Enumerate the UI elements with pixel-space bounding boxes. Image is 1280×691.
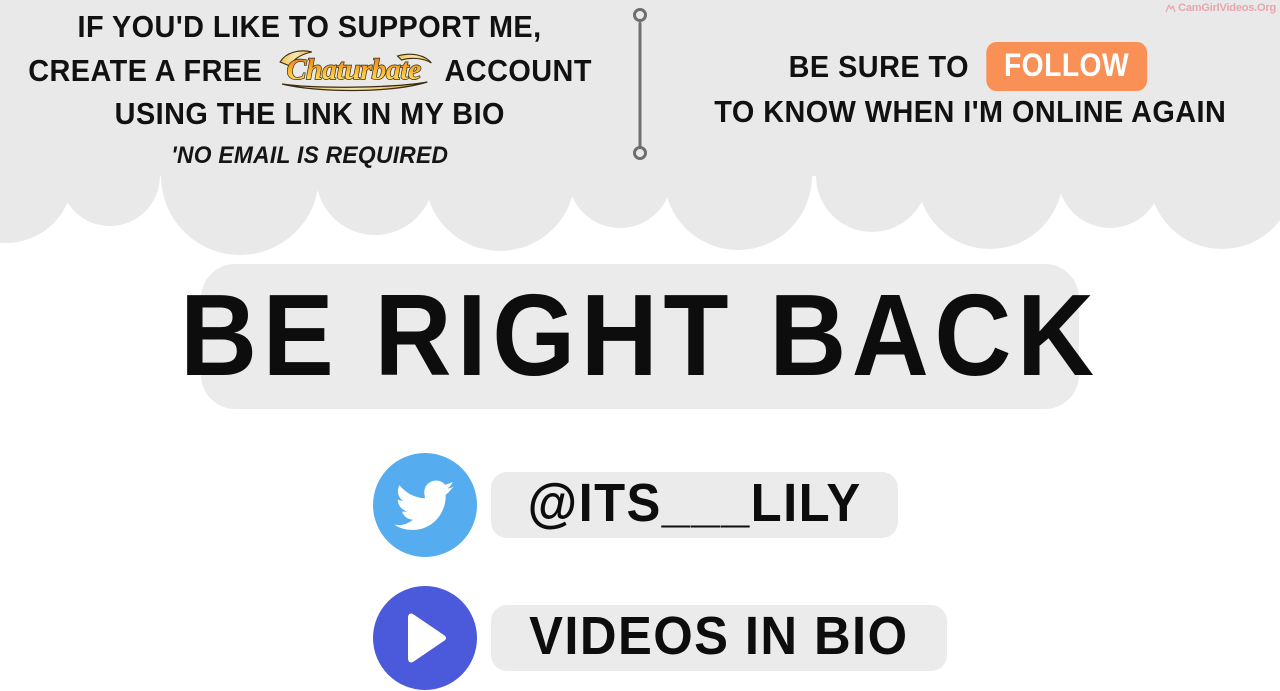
social-row-twitter[interactable]: @ITS___LILY [373,453,898,557]
play-button-icon[interactable] [373,586,477,690]
divider-knob-bottom [633,146,647,160]
divider-knob-top [633,8,647,22]
support-line-2-suffix: ACCOUNT [444,50,591,91]
header-support-block: IF YOU'D LIKE TO SUPPORT ME, CREATE A FR… [0,0,620,176]
header-follow-block: BE SURE TO FOLLOW TO KNOW WHEN I'M ONLIN… [660,0,1280,176]
videos-bio-label: VIDEOS IN BIO [529,609,908,663]
chaturbate-logo: Chaturbate [266,46,441,92]
follow-line-2: TO KNOW WHEN I'M ONLINE AGAIN [714,91,1226,132]
watermark-text: CamGirlVideos.Org [1178,2,1276,14]
twitter-handle-label: @ITS___LILY [528,476,862,530]
support-line-3: USING THE LINK IN MY BIO [115,93,505,134]
divider-bar [639,22,642,148]
scalloped-cloud-edge [0,176,1280,246]
twitter-handle-pill[interactable]: @ITS___LILY [491,472,898,538]
support-line-1: IF YOU'D LIKE TO SUPPORT ME, [78,6,542,47]
follow-line-1: BE SURE TO FOLLOW [789,42,1151,91]
status-banner: BE RIGHT BACK [201,264,1079,409]
overlay-screen: IF YOU'D LIKE TO SUPPORT ME, CREATE A FR… [0,0,1280,691]
support-line-2: CREATE A FREE [28,47,592,93]
watermark: CamGirlVideos.Org [1165,2,1276,14]
follow-button[interactable]: FOLLOW [986,42,1146,91]
svg-text:Chaturbate: Chaturbate [286,53,421,86]
support-line-2-prefix: CREATE A FREE [28,50,262,91]
social-row-videos[interactable]: VIDEOS IN BIO [373,586,947,690]
vertical-pin-divider-icon [630,8,650,160]
watermark-logo-icon [1165,3,1176,14]
twitter-bird-icon[interactable] [373,453,477,557]
page-title: BE RIGHT BACK [180,277,1100,393]
no-email-note: 'NO EMAIL IS REQUIRED [171,141,448,171]
videos-bio-pill[interactable]: VIDEOS IN BIO [491,605,947,671]
follow-line-1-prefix: BE SURE TO [789,46,969,87]
